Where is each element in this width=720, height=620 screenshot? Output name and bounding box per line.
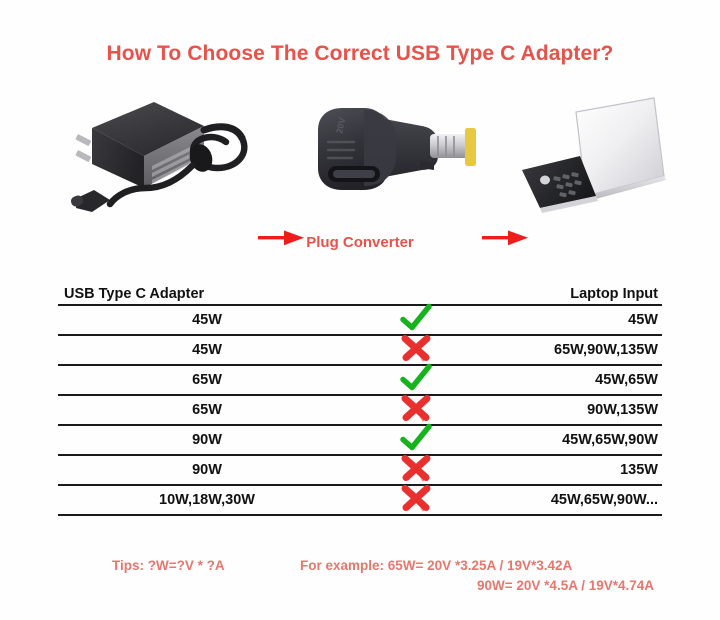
cell-adapter-wattage: 90W <box>58 462 356 478</box>
example-line-1: For example: 65W= 20V *3.25A / 19V*3.42A <box>300 556 660 576</box>
column-header-input: Laptop Input <box>477 286 662 302</box>
cell-compatibility-mark <box>356 306 475 334</box>
cell-adapter-wattage: 65W <box>58 372 356 388</box>
table-row: 45W65W,90W,135W <box>58 336 662 364</box>
table-row-divider <box>58 514 662 516</box>
column-header-adapter: USB Type C Adapter <box>58 286 359 302</box>
cell-adapter-wattage: 45W <box>58 342 356 358</box>
product-diagram: 20V <box>0 82 720 227</box>
table-body: 45W45W45W65W,90W,135W65W45W,65W65W90W,13… <box>58 306 662 516</box>
check-icon <box>399 304 433 334</box>
cell-adapter-wattage: 45W <box>58 312 356 328</box>
cell-compatibility-mark <box>356 336 475 364</box>
table-row: 65W90W,135W <box>58 396 662 424</box>
cell-compatibility-mark <box>356 456 475 484</box>
power-adapter-image <box>58 84 273 226</box>
laptop-image <box>500 84 675 214</box>
table-row: 10W,18W,30W45W,65W,90W... <box>58 486 662 514</box>
table-row: 45W45W <box>58 306 662 334</box>
cell-laptop-input: 135W <box>475 462 662 478</box>
cell-compatibility-mark <box>356 366 475 394</box>
cell-compatibility-mark <box>356 426 475 454</box>
table-row: 90W45W,65W,90W <box>58 426 662 454</box>
compatibility-table: USB Type C Adapter Laptop Input 45W45W45… <box>58 276 662 516</box>
cell-laptop-input: 65W,90W,135W <box>475 342 662 358</box>
cross-icon <box>399 484 433 514</box>
cell-compatibility-mark <box>356 396 475 424</box>
check-icon <box>399 364 433 394</box>
cell-laptop-input: 90W,135W <box>475 402 662 418</box>
cell-compatibility-mark <box>356 486 475 514</box>
tips-text: Tips: ?W=?V * ?A <box>112 558 225 573</box>
plug-converter-image: 20V <box>302 90 487 210</box>
cell-adapter-wattage: 65W <box>58 402 356 418</box>
cell-adapter-wattage: 90W <box>58 432 356 448</box>
example-text: For example: 65W= 20V *3.25A / 19V*3.42A… <box>300 556 660 596</box>
page-title: How To Choose The Correct USB Type C Ada… <box>0 42 720 66</box>
cross-icon <box>399 394 433 424</box>
example-line-2: 90W= 20V *4.5A / 19V*4.74A <box>300 576 660 596</box>
cell-laptop-input: 45W,65W,90W... <box>475 492 662 508</box>
cell-laptop-input: 45W,65W <box>475 372 662 388</box>
cell-adapter-wattage: 10W,18W,30W <box>58 492 356 508</box>
table-row: 90W135W <box>58 456 662 484</box>
cell-laptop-input: 45W <box>475 312 662 328</box>
cell-laptop-input: 45W,65W,90W <box>475 432 662 448</box>
cross-icon <box>399 454 433 484</box>
table-row: 65W45W,65W <box>58 366 662 394</box>
check-icon <box>399 424 433 454</box>
cross-icon <box>399 334 433 364</box>
table-header-row: USB Type C Adapter Laptop Input <box>58 276 662 304</box>
plug-converter-label: Plug Converter <box>0 234 720 251</box>
